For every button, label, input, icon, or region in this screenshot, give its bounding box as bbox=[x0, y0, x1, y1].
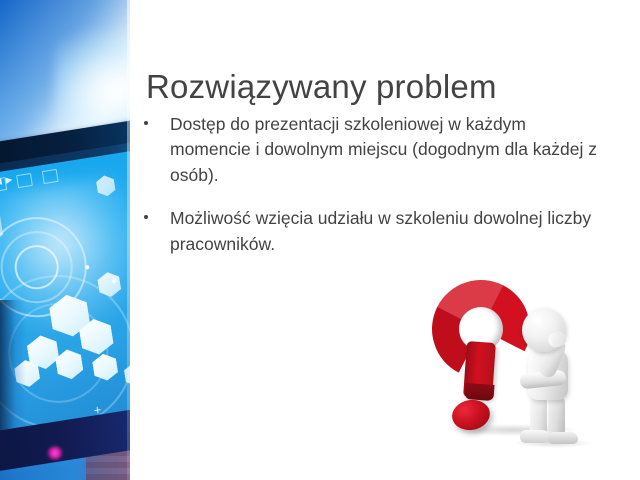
hexagon-icon bbox=[54, 347, 84, 381]
figure-foot-right bbox=[548, 432, 578, 444]
bullet-dot-icon bbox=[144, 215, 148, 219]
thinking-figure-icon bbox=[508, 308, 608, 438]
hexagon-icon bbox=[91, 352, 119, 382]
presentation-slide: ◄► 2.35 2 35 + bbox=[0, 0, 640, 480]
sidebar-right-edge bbox=[127, 0, 130, 480]
list-item-text: Dostęp do prezentacji szkoleniowej w każ… bbox=[170, 114, 597, 185]
list-item-text: Możliwość wzięcia udziału w szkoleniu do… bbox=[170, 208, 591, 253]
sidebar-decorative-image: ◄► 2.35 2 35 + bbox=[0, 0, 130, 480]
hexagon-icon bbox=[96, 270, 122, 298]
figure-foot-left bbox=[520, 430, 550, 443]
list-item: Możliwość wzięcia udziału w szkoleniu do… bbox=[140, 206, 610, 257]
question-mark-stem-shadow bbox=[464, 383, 494, 401]
list-item: Dostęp do prezentacji szkoleniowej w każ… bbox=[140, 112, 610, 188]
bullet-list: Dostęp do prezentacji szkoleniowej w każ… bbox=[140, 112, 610, 257]
bullet-dot-icon bbox=[144, 121, 148, 125]
page-title: Rozwiązywany problem bbox=[146, 68, 616, 106]
question-mark-illustration bbox=[408, 272, 630, 444]
hud-dot-icon bbox=[85, 265, 90, 270]
hexagon-icon bbox=[95, 174, 116, 198]
magenta-glow-dot bbox=[46, 446, 64, 460]
